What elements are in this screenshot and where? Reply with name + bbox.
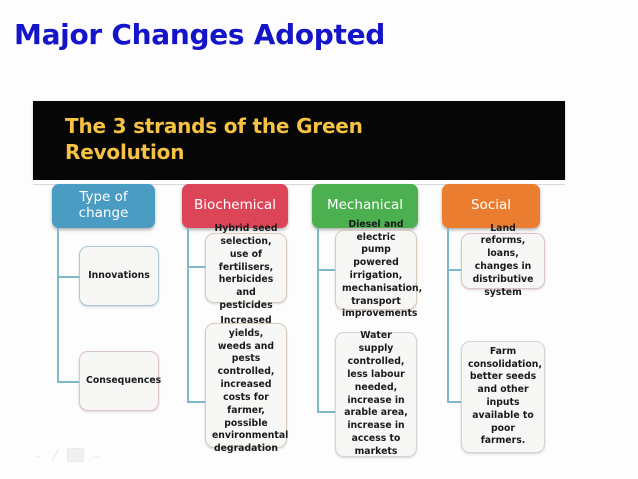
next-arrow-icon[interactable]: →	[90, 450, 101, 461]
connector-branch-mechanical-consequences	[317, 411, 335, 413]
connector-branch-innovations	[57, 276, 79, 278]
node-biochemical-consequences[interactable]: Increased yields, weeds and pests contro…	[205, 323, 287, 448]
node-text: Land reforms, loans, changes in distribu…	[468, 223, 538, 300]
column-header-biochemical[interactable]: Biochemical	[182, 184, 288, 228]
node-social-innovations[interactable]: Land reforms, loans, changes in distribu…	[461, 233, 545, 289]
diagram-banner-title: The 3 strands of the Green Revolution	[65, 113, 465, 166]
column-header-label: Mechanical	[316, 198, 414, 214]
column-header-social[interactable]: Social	[442, 184, 540, 228]
node-text: Increased yields, weeds and pests contro…	[212, 315, 280, 456]
column-header-label: Biochemical	[186, 198, 284, 214]
node-mechanical-consequences[interactable]: Water supply controlled, less labour nee…	[335, 332, 417, 457]
node-social-consequences[interactable]: Farm consolidation, better seeds and oth…	[461, 341, 545, 453]
column-header-label: Type of change	[56, 190, 151, 222]
node-text: Water supply controlled, less labour nee…	[342, 330, 410, 458]
slide-view-icon[interactable]	[67, 448, 84, 462]
column-header-label: Social	[446, 198, 536, 214]
connector-branch-biochemical-consequences	[187, 401, 205, 403]
node-consequences[interactable]: Consequences	[79, 351, 159, 411]
slide-toolbar[interactable]: ← ╱ →	[33, 448, 101, 462]
diagram-banner: The 3 strands of the Green Revolution	[33, 101, 565, 180]
node-text: Consequences	[86, 375, 152, 388]
node-mechanical-innovations[interactable]: Diesel and electric pump powered irrigat…	[335, 230, 417, 310]
connector-vertical-biochemical	[187, 228, 189, 403]
green-revolution-diagram: The 3 strands of the Green Revolution Ty…	[33, 101, 565, 461]
connector-vertical-type-of-change	[57, 228, 59, 383]
connector-branch-social-consequences	[447, 401, 461, 403]
page-title: Major Changes Adopted	[14, 18, 385, 51]
node-text: Innovations	[86, 270, 152, 283]
node-innovations[interactable]: Innovations	[79, 246, 159, 306]
connector-vertical-mechanical	[317, 228, 319, 413]
previous-arrow-icon[interactable]: ←	[33, 450, 44, 461]
connector-branch-social-innovations	[447, 269, 461, 271]
node-text: Hybrid seed selection, use of fertiliser…	[212, 223, 280, 313]
connector-branch-biochemical-innovations	[187, 266, 205, 268]
pencil-icon[interactable]: ╱	[50, 450, 61, 461]
connector-branch-mechanical-innovations	[317, 269, 335, 271]
connector-vertical-social	[447, 228, 449, 403]
connector-branch-consequences	[57, 381, 79, 383]
node-text: Diesel and electric pump powered irrigat…	[342, 219, 410, 322]
node-text: Farm consolidation, better seeds and oth…	[468, 346, 538, 449]
node-biochemical-innovations[interactable]: Hybrid seed selection, use of fertiliser…	[205, 233, 287, 303]
column-header-type-of-change[interactable]: Type of change	[52, 184, 155, 228]
